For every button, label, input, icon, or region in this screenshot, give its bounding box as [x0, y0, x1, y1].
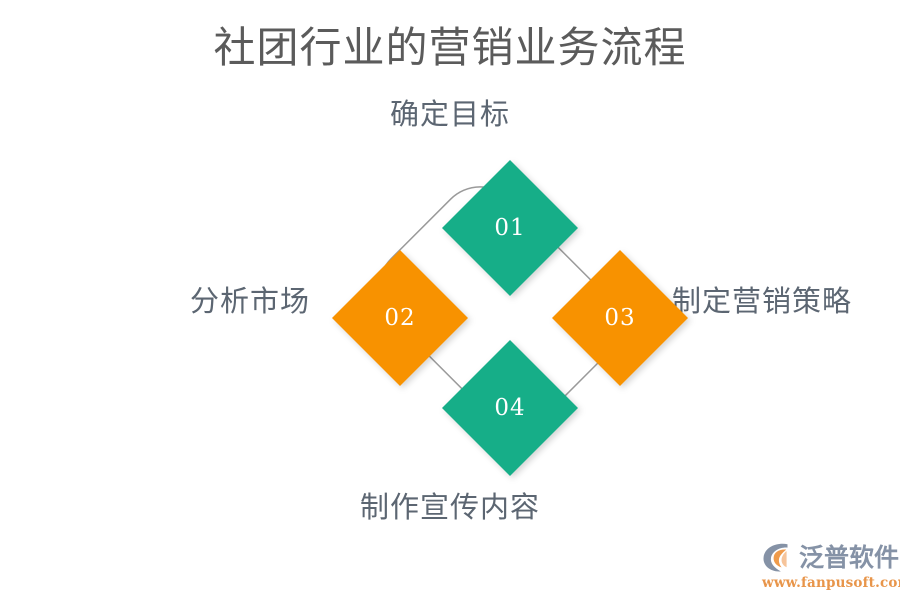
step-label-04: 制作宣传内容: [0, 492, 900, 524]
brand-name: 泛普软件: [799, 545, 899, 570]
step-label-02: 分析市场: [0, 286, 330, 318]
step-number-02: 02: [384, 305, 415, 331]
process-cycle-diagram: 01 02 03 04: [330, 148, 690, 488]
step-label-01: 确定目标: [0, 99, 900, 131]
brand-watermark: 泛普软件 www.fanpusoft.com: [762, 540, 894, 592]
brand-url: www.fanpusoft.com: [762, 575, 894, 591]
step-number-04: 04: [494, 395, 525, 421]
page-title: 社团行业的营销业务流程: [0, 24, 900, 72]
step-number-01: 01: [494, 215, 525, 241]
step-number-03: 03: [604, 305, 635, 331]
fanpu-c-swoosh-logo-icon: [762, 542, 796, 573]
brand-row: 泛普软件: [762, 540, 894, 574]
slide-canvas: 社团行业的营销业务流程 确定目标 分析市场 制定营销策略 制作宣传内容 01: [0, 0, 900, 600]
step-label-03: 制定营销策略: [672, 286, 900, 318]
